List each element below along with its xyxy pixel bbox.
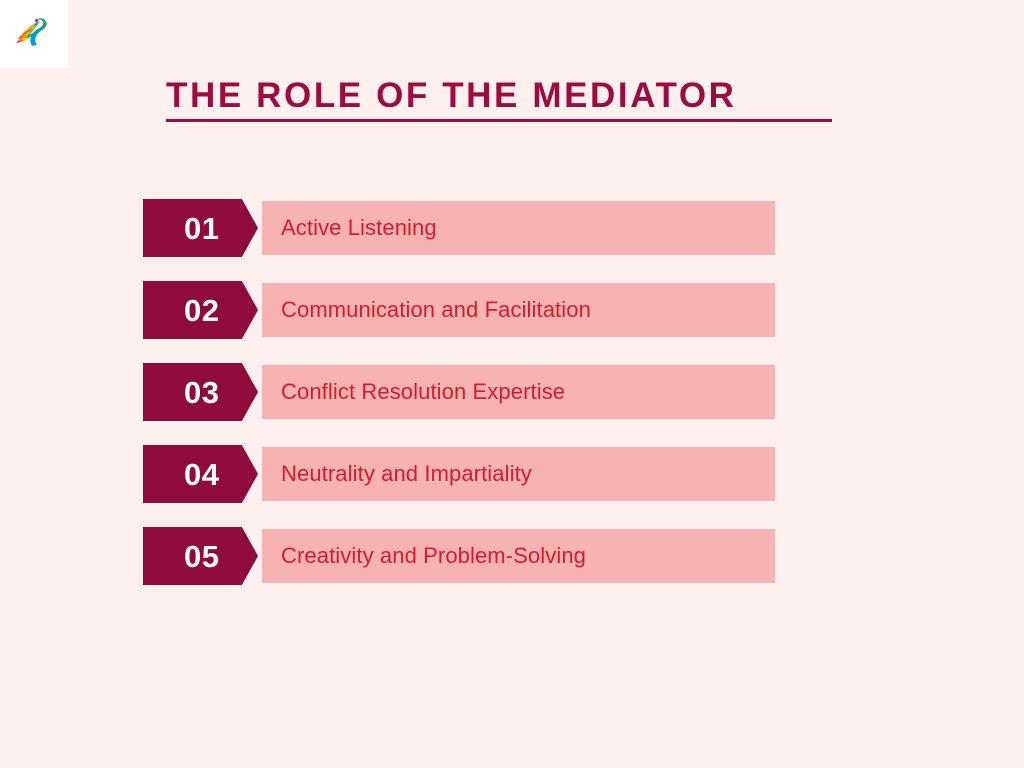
list-item[interactable]: Conflict Resolution Expertise 03	[143, 363, 783, 421]
list-item-label: Conflict Resolution Expertise	[262, 379, 565, 405]
list-item-number-badge: 01	[143, 199, 258, 257]
list-item-number: 04	[184, 459, 219, 490]
list-item-label: Communication and Facilitation	[262, 297, 591, 323]
swan-logo-icon	[13, 15, 55, 53]
list-item-bar: Conflict Resolution Expertise	[262, 365, 775, 419]
list-item-number-badge: 02	[143, 281, 258, 339]
list-item-label: Neutrality and Impartiality	[262, 461, 532, 487]
list-item-number: 03	[184, 377, 219, 408]
list-item[interactable]: Communication and Facilitation 02	[143, 281, 783, 339]
list-item-number-badge: 03	[143, 363, 258, 421]
list-item-bar: Communication and Facilitation	[262, 283, 775, 337]
logo-plate	[0, 0, 68, 68]
list-item-label: Active Listening	[262, 215, 437, 241]
list-item[interactable]: Creativity and Problem-Solving 05	[143, 527, 783, 585]
list-item-bar: Neutrality and Impartiality	[262, 447, 775, 501]
list-item-number-badge: 05	[143, 527, 258, 585]
list-item-bar: Creativity and Problem-Solving	[262, 529, 775, 583]
list-item-number-badge: 04	[143, 445, 258, 503]
list-item-number: 01	[184, 213, 219, 244]
list-item[interactable]: Active Listening 01	[143, 199, 783, 257]
list-item-label: Creativity and Problem-Solving	[262, 543, 586, 569]
numbered-items-list: Active Listening 01 Communication and Fa…	[143, 199, 783, 585]
list-item[interactable]: Neutrality and Impartiality 04	[143, 445, 783, 503]
list-item-number: 05	[184, 541, 219, 572]
list-item-bar: Active Listening	[262, 201, 775, 255]
page-title: THE ROLE OF THE MEDIATOR	[166, 78, 866, 115]
list-item-number: 02	[184, 295, 219, 326]
title-underline-divider	[166, 119, 832, 122]
